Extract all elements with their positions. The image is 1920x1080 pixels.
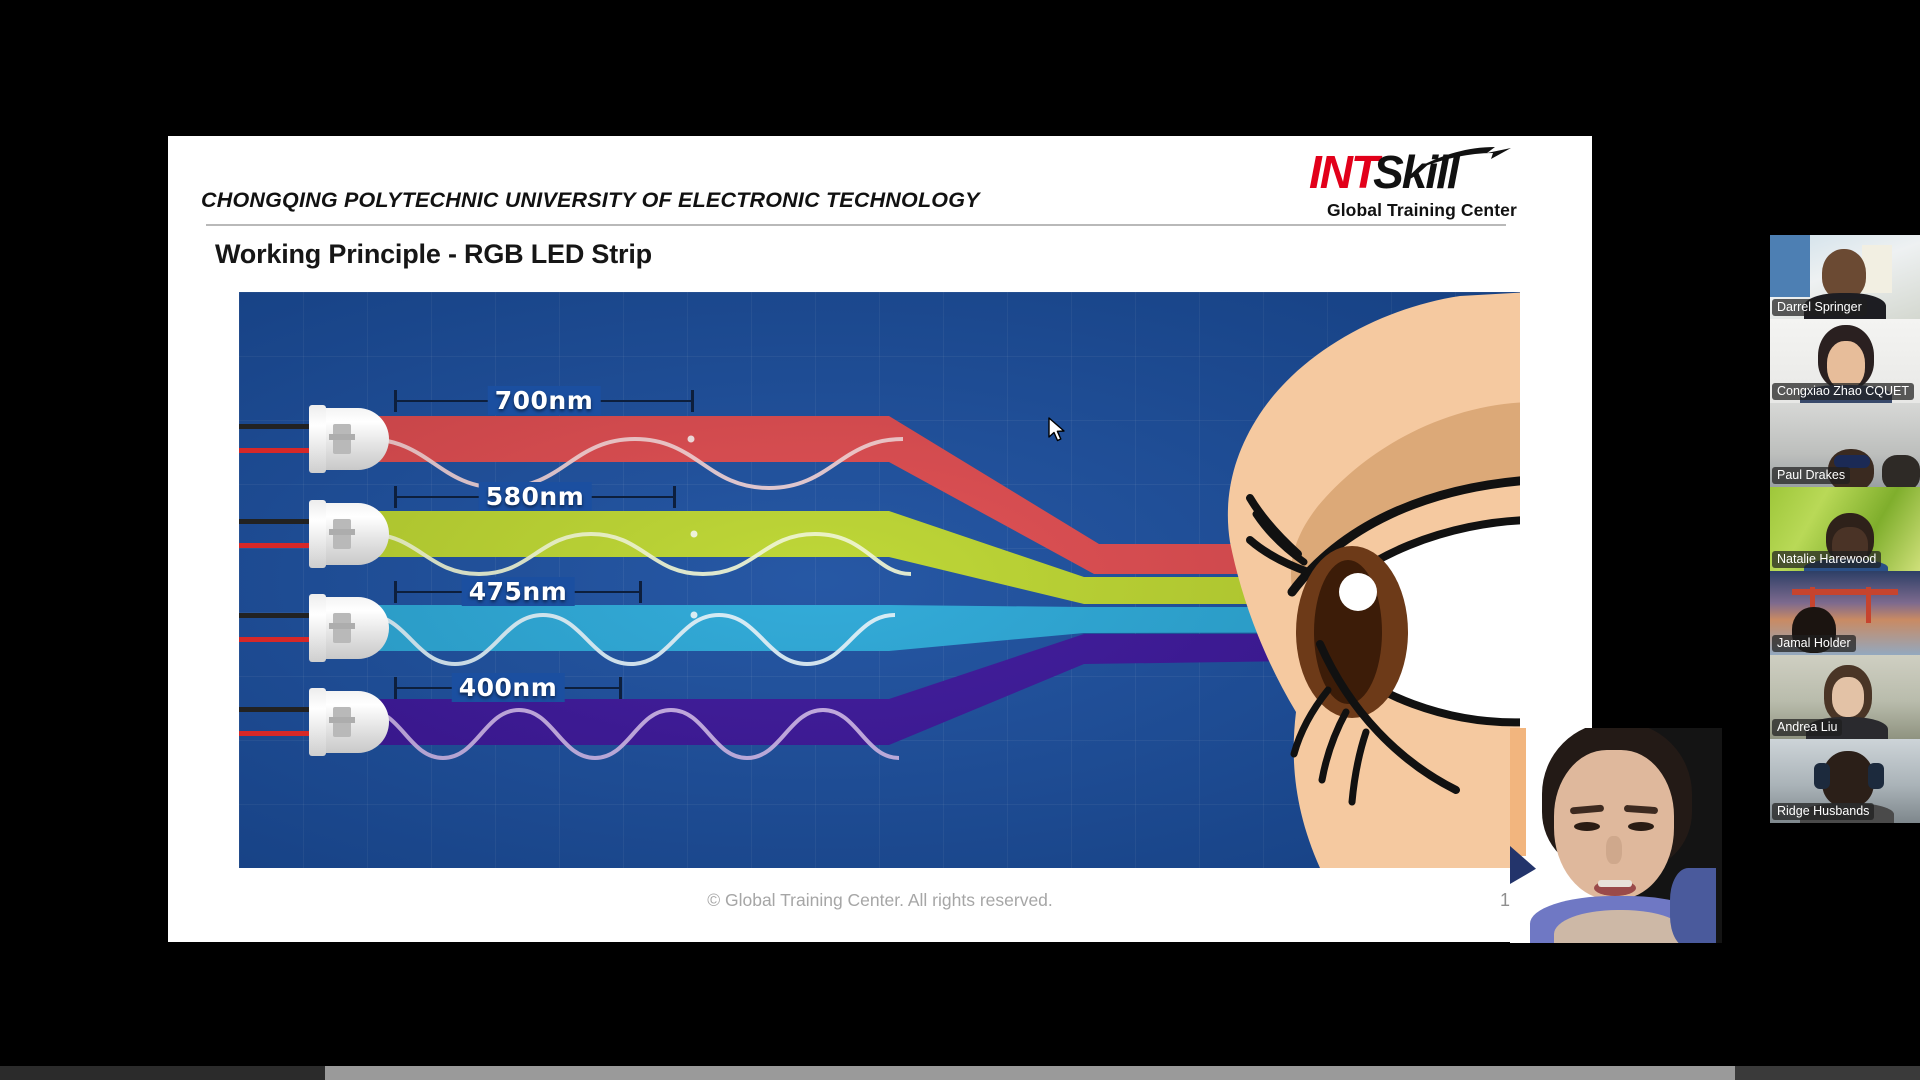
led-bulb-violet [285, 691, 389, 753]
university-name: CHONGQING POLYTECHNIC UNIVERSITY OF ELEC… [201, 188, 980, 213]
led-lead-black [239, 519, 313, 524]
led-bulb-cyan [285, 597, 389, 659]
measure-tick-left [394, 486, 397, 508]
led-lead-red [239, 448, 313, 453]
led-flange [309, 688, 326, 756]
logo-int-text: INT [1309, 146, 1377, 198]
mouse-cursor [1047, 417, 1067, 443]
wavelength-label-700nm: 700nm [394, 386, 694, 420]
bottom-scrollbar-thumb[interactable] [325, 1066, 1735, 1080]
led-chip-base [329, 717, 355, 723]
measure-tick-right [619, 677, 622, 699]
measure-tick-left [394, 581, 397, 603]
intskill-logo: INTSkill Global Training Center [1309, 144, 1514, 226]
led-bulb-red [285, 408, 389, 470]
participant-name: Congxiao Zhao CQUET [1772, 383, 1914, 401]
slide-title: Working Principle - RGB LED Strip [215, 239, 652, 270]
wavelength-text: 400nm [452, 673, 565, 702]
led-lead-red [239, 637, 313, 642]
led-lead-red [239, 731, 313, 736]
measure-tick-right [639, 581, 642, 603]
participant-name: Jamal Holder [1772, 635, 1856, 653]
led-chip-base [329, 529, 355, 535]
wavelength-text: 580nm [479, 482, 592, 511]
participant-tile[interactable]: Darrel Springer [1770, 235, 1920, 319]
led-lead-red [239, 543, 313, 548]
slide-footer-copyright: © Global Training Center. All rights res… [168, 890, 1592, 911]
logo-skill-text: Skill [1373, 146, 1458, 198]
participant-tile[interactable]: Jamal Holder [1770, 571, 1920, 655]
measure-tick-left [394, 390, 397, 412]
measure-tick-left [394, 677, 397, 699]
led-bulb-yellow [285, 503, 389, 565]
bottom-bar-left-segment [0, 1066, 325, 1080]
led-chip-base [329, 623, 355, 629]
participant-tile[interactable]: Ridge Husbands [1770, 739, 1920, 823]
led-lead-black [239, 613, 313, 618]
wavelength-label-400nm: 400nm [394, 673, 622, 707]
bottom-bar [0, 1066, 1920, 1080]
led-lead-black [239, 707, 313, 712]
participant-tile[interactable]: Natalie Harewood [1770, 487, 1920, 571]
participant-name: Andrea Liu [1772, 719, 1842, 737]
presentation-slide[interactable]: CHONGQING POLYTECHNIC UNIVERSITY OF ELEC… [168, 136, 1592, 942]
logo-subtitle: Global Training Center [1327, 200, 1517, 221]
wavelength-text: 475nm [462, 577, 575, 606]
screen-root: CHONGQING POLYTECHNIC UNIVERSITY OF ELEC… [0, 0, 1920, 1080]
led-lead-black [239, 424, 313, 429]
participant-tile[interactable]: Andrea Liu [1770, 655, 1920, 739]
led-flange [309, 594, 326, 662]
speaker-video-feed [1510, 728, 1722, 943]
participant-tile[interactable]: Paul Drakes [1770, 403, 1920, 487]
led-flange [309, 405, 326, 473]
active-speaker-video[interactable] [1510, 728, 1722, 943]
participant-name: Paul Drakes [1772, 467, 1850, 485]
participant-name: Ridge Husbands [1772, 803, 1874, 821]
measure-tick-right [673, 486, 676, 508]
participant-name: Darrel Springer [1772, 299, 1867, 317]
measure-tick-right [691, 390, 694, 412]
wavelength-text: 700nm [488, 386, 601, 415]
led-flange [309, 500, 326, 568]
participant-name: Natalie Harewood [1772, 551, 1881, 569]
participant-tile[interactable]: Congxiao Zhao CQUET [1770, 319, 1920, 403]
human-eye-illustration [1200, 292, 1520, 868]
wavelength-label-580nm: 580nm [394, 482, 676, 516]
logo-wordmark: INTSkill [1309, 144, 1514, 200]
bottom-bar-right-segment [1735, 1066, 1920, 1080]
slide-header: CHONGQING POLYTECHNIC UNIVERSITY OF ELEC… [168, 136, 1592, 236]
participant-video-strip[interactable]: Darrel Springer Congxiao Zhao CQUET Paul… [1770, 235, 1920, 823]
rgb-led-wavelength-diagram: 700nm 580nm 475nm 400nm [239, 292, 1520, 868]
led-chip-base [329, 434, 355, 440]
wavelength-label-475nm: 475nm [394, 577, 642, 611]
